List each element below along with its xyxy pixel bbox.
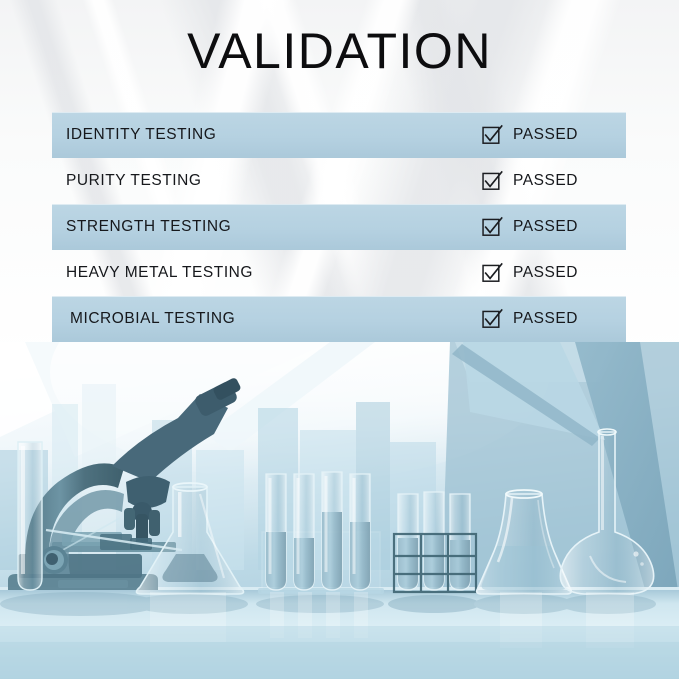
table-row: IDENTITY TESTING PASSED (52, 112, 626, 158)
status-cell: PASSED (482, 217, 626, 238)
checkbox-checked-icon (482, 217, 503, 238)
laboratory-scene-image (0, 342, 679, 679)
status-cell: PASSED (482, 263, 626, 284)
test-name-label: STRENGTH TESTING (52, 218, 482, 236)
checkbox-checked-icon (482, 125, 503, 146)
checkbox-checked-icon (482, 263, 503, 284)
test-name-label: IDENTITY TESTING (52, 126, 482, 144)
table-row: HEAVY METAL TESTING PASSED (52, 250, 626, 296)
page-title: VALIDATION (0, 22, 679, 80)
status-cell: PASSED (482, 309, 626, 330)
table-row: MICROBIAL TESTING PASSED (52, 296, 626, 342)
status-text: PASSED (513, 310, 578, 328)
test-name-label: MICROBIAL TESTING (52, 310, 482, 328)
test-name-label: HEAVY METAL TESTING (52, 264, 482, 282)
status-text: PASSED (513, 172, 578, 190)
test-tube-tall-left (18, 442, 42, 590)
checkbox-checked-icon (482, 309, 503, 330)
checkbox-checked-icon (482, 171, 503, 192)
status-cell: PASSED (482, 125, 626, 146)
table-row: STRENGTH TESTING PASSED (52, 204, 626, 250)
test-tube-rack-three (394, 492, 476, 592)
status-text: PASSED (513, 218, 578, 236)
status-text: PASSED (513, 264, 578, 282)
status-text: PASSED (513, 126, 578, 144)
test-name-label: PURITY TESTING (52, 172, 482, 190)
validation-infographic: VALIDATION IDENTITY TESTING PASSED PURIT… (0, 0, 679, 679)
status-cell: PASSED (482, 171, 626, 192)
validation-results-table: IDENTITY TESTING PASSED PURITY TESTING (52, 112, 626, 342)
table-row: PURITY TESTING PASSED (52, 158, 626, 204)
